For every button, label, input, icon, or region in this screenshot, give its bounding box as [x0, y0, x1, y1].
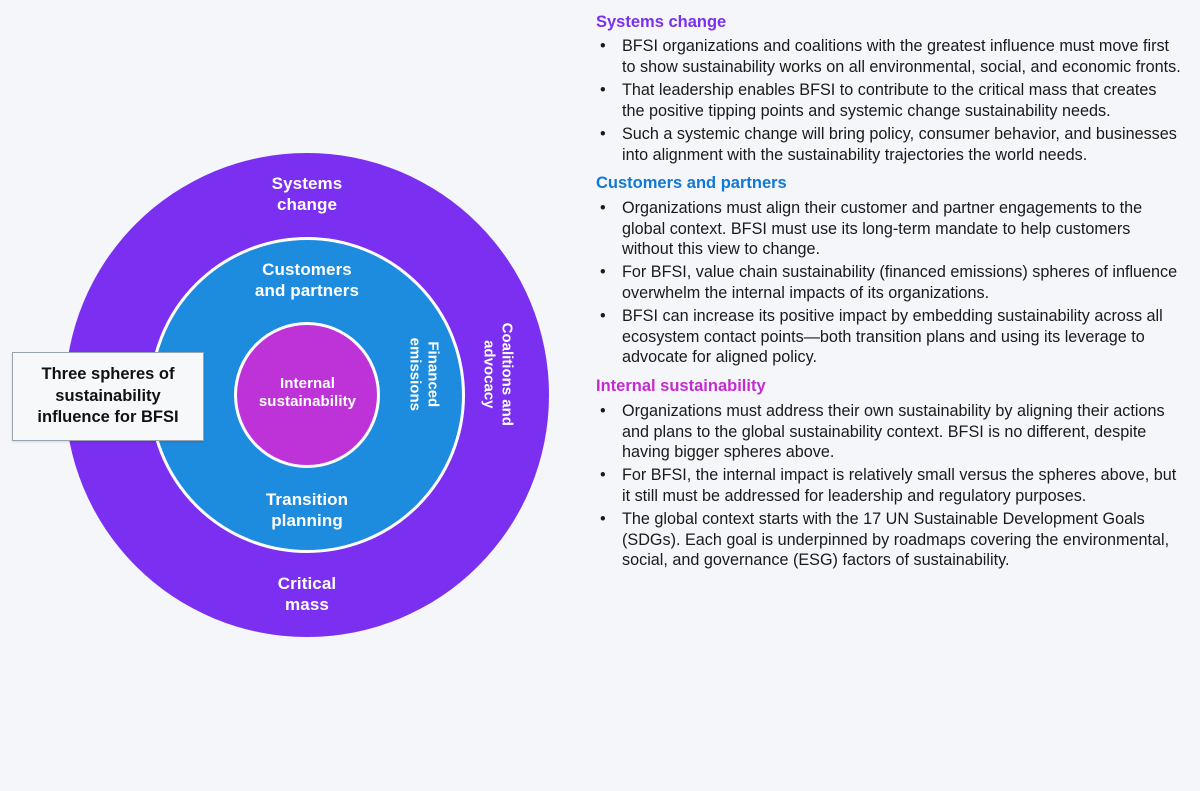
- bullet-dot-icon: •: [600, 509, 606, 530]
- bullet-text: That leadership enables BFSI to contribu…: [622, 81, 1156, 120]
- middle-ring-bottom-label: Transition planning: [177, 490, 437, 531]
- panel-section: Internal sustainability•Organizations mu…: [596, 376, 1182, 571]
- bullet-dot-icon: •: [600, 36, 606, 57]
- bullet-text: Organizations must align their customer …: [622, 199, 1142, 259]
- spheres-diagram: Systems change Critical mass Customers a…: [0, 0, 580, 791]
- bullet-text: Such a systemic change will bring policy…: [622, 125, 1177, 164]
- section-heading: Customers and partners: [596, 173, 1182, 194]
- bullet-item: •For BFSI, the internal impact is relati…: [596, 465, 1182, 507]
- callout-box-text: Three spheres of sustainability influenc…: [37, 364, 178, 429]
- explanation-panel: Systems change•BFSI organizations and co…: [596, 12, 1182, 579]
- bullet-list: •Organizations must address their own su…: [596, 401, 1182, 572]
- bullet-list: •Organizations must align their customer…: [596, 198, 1182, 369]
- bullet-item: •That leadership enables BFSI to contrib…: [596, 80, 1182, 122]
- section-heading: Internal sustainability: [596, 376, 1182, 397]
- bullet-item: •The global context starts with the 17 U…: [596, 509, 1182, 571]
- middle-ring-side-label: Financed emissions: [405, 299, 442, 449]
- bullet-item: •For BFSI, value chain sustainability (f…: [596, 262, 1182, 304]
- bullet-item: •Such a systemic change will bring polic…: [596, 124, 1182, 166]
- inner-circle-label: Internal sustainability: [240, 375, 375, 412]
- bullet-item: •BFSI organizations and coalitions with …: [596, 36, 1182, 78]
- bullet-list: •BFSI organizations and coalitions with …: [596, 36, 1182, 165]
- callout-box: Three spheres of sustainability influenc…: [12, 352, 204, 441]
- bullet-dot-icon: •: [600, 124, 606, 145]
- bullet-text: BFSI organizations and coalitions with t…: [622, 37, 1181, 76]
- bullet-dot-icon: •: [600, 401, 606, 422]
- bullet-dot-icon: •: [600, 465, 606, 486]
- bullet-text: For BFSI, the internal impact is relativ…: [622, 466, 1176, 505]
- bullet-item: •Organizations must align their customer…: [596, 198, 1182, 260]
- outer-ring-top-label: Systems change: [157, 174, 457, 215]
- bullet-dot-icon: •: [600, 262, 606, 283]
- bullet-dot-icon: •: [600, 198, 606, 219]
- panel-section: Systems change•BFSI organizations and co…: [596, 12, 1182, 165]
- bullet-item: •BFSI can increase its positive impact b…: [596, 306, 1182, 368]
- bullet-text: Organizations must address their own sus…: [622, 402, 1165, 462]
- bullet-dot-icon: •: [600, 306, 606, 327]
- panel-section: Customers and partners•Organizations mus…: [596, 173, 1182, 368]
- bullet-dot-icon: •: [600, 80, 606, 101]
- bullet-text: For BFSI, value chain sustainability (fi…: [622, 263, 1177, 302]
- bullet-text: The global context starts with the 17 UN…: [622, 510, 1169, 570]
- bullet-text: BFSI can increase its positive impact by…: [622, 307, 1163, 367]
- outer-ring-bottom-label: Critical mass: [157, 574, 457, 615]
- middle-ring-top-label: Customers and partners: [177, 260, 437, 301]
- bullet-item: •Organizations must address their own su…: [596, 401, 1182, 463]
- section-heading: Systems change: [596, 12, 1182, 33]
- outer-ring-side-label: Coalitions and advocacy: [479, 289, 516, 459]
